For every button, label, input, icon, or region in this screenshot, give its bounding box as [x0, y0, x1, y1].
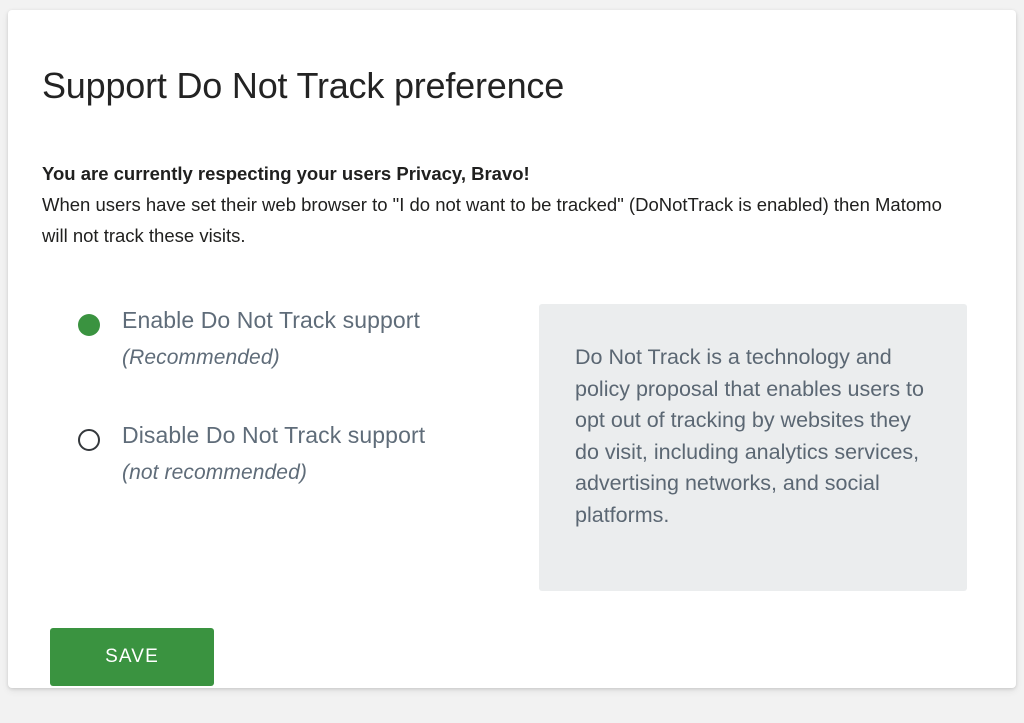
intro-body: When users have set their web browser to…: [42, 189, 952, 251]
radio-option-enable-label: Enable Do Not Track support: [122, 303, 512, 337]
radio-option-enable-sublabel: (Recommended): [122, 342, 512, 374]
radio-option-disable-label: Disable Do Not Track support: [122, 418, 512, 452]
radio-button-enable-selected-icon[interactable]: [78, 314, 100, 336]
radio-button-disable-unselected-icon[interactable]: [78, 429, 100, 451]
radio-option-disable[interactable]: Disable Do Not Track support (not recomm…: [42, 418, 512, 489]
page-title: Support Do Not Track preference: [42, 64, 564, 107]
do-not-track-info-panel: Do Not Track is a technology and policy …: [539, 304, 967, 591]
intro-headline: You are currently respecting your users …: [42, 158, 952, 189]
intro-text-block: You are currently respecting your users …: [42, 158, 952, 251]
radio-option-disable-sublabel: (not recommended): [122, 457, 512, 489]
do-not-track-info-text: Do Not Track is a technology and policy …: [575, 342, 933, 531]
save-button[interactable]: Save: [50, 628, 214, 686]
settings-card: Support Do Not Track preference You are …: [8, 10, 1016, 688]
radio-option-enable[interactable]: Enable Do Not Track support (Recommended…: [42, 303, 512, 374]
do-not-track-radio-group: Enable Do Not Track support (Recommended…: [42, 303, 512, 489]
